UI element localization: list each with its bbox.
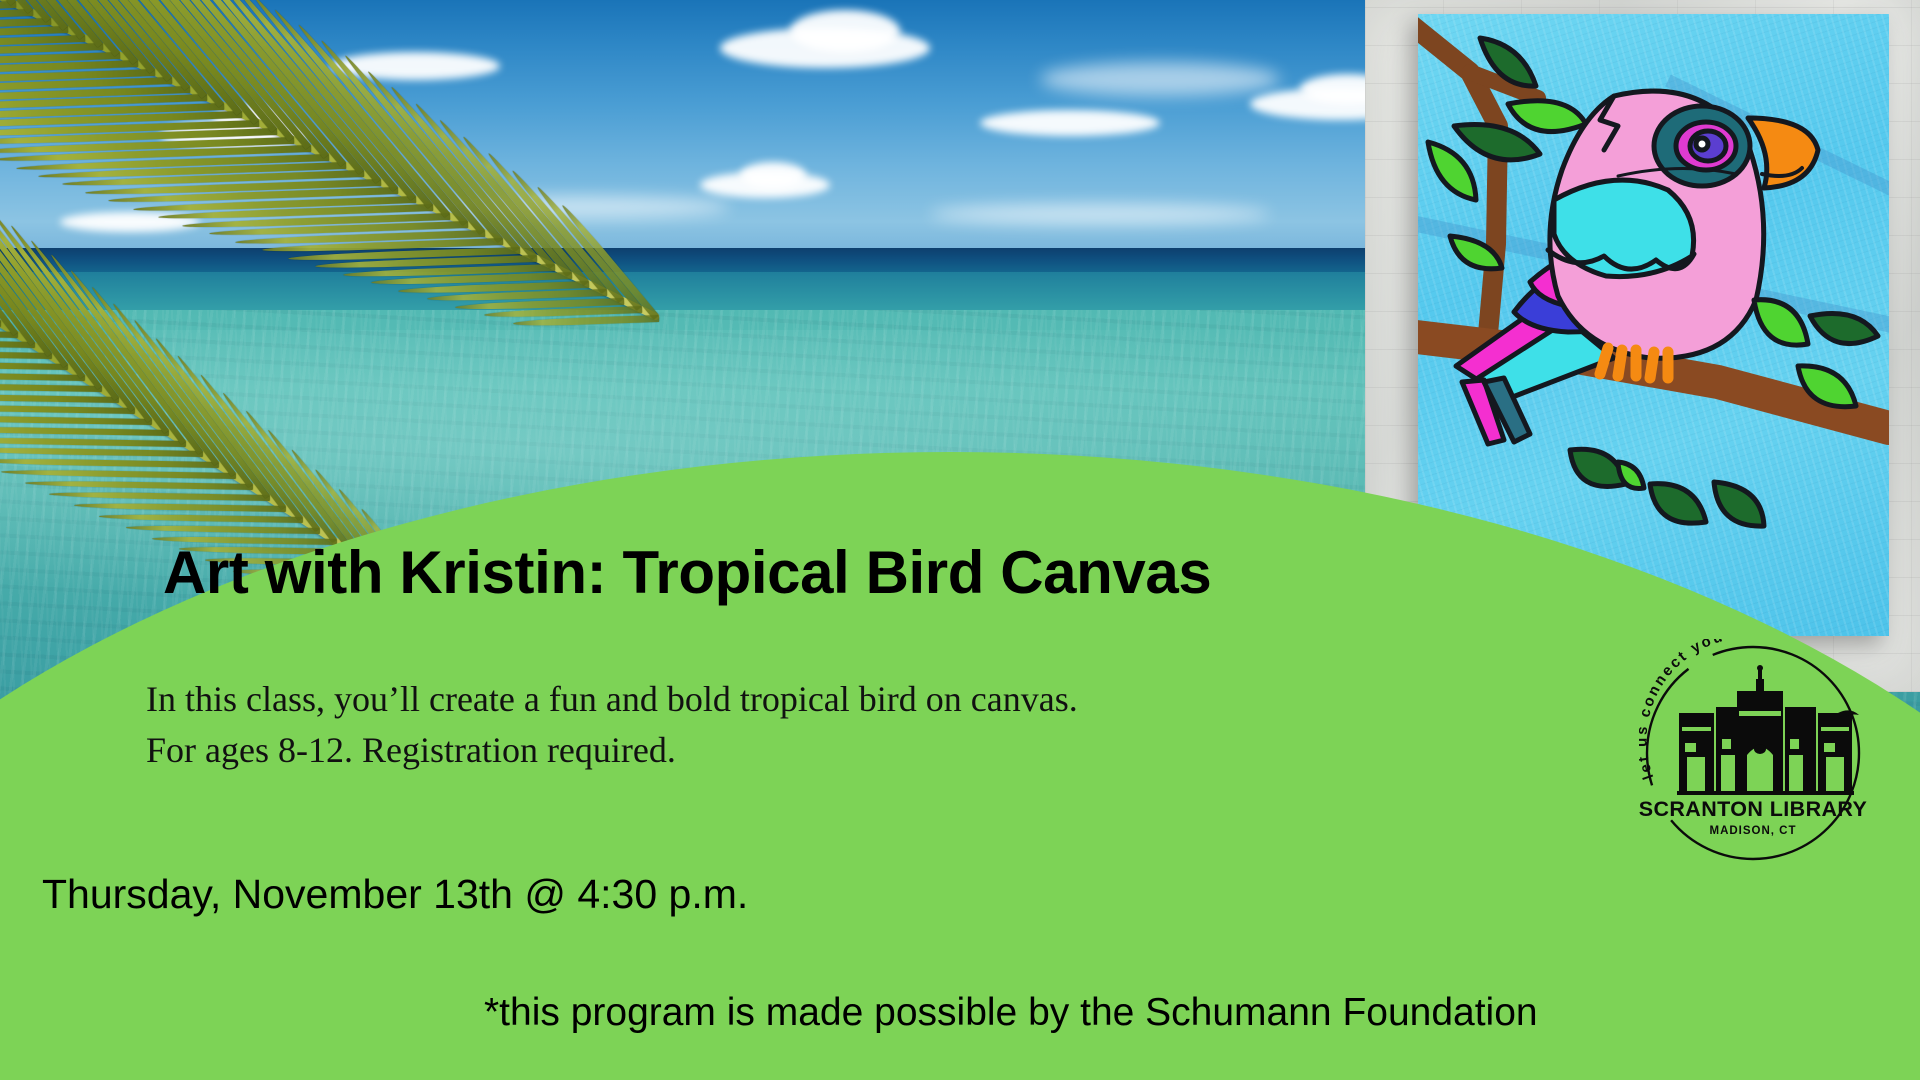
page-title: Art with Kristin: Tropical Bird Canvas (163, 538, 1211, 607)
logo-name: SCRANTON LIBRARY (1639, 797, 1867, 821)
logo-location: MADISON, CT (1709, 825, 1796, 837)
cloud (930, 204, 1270, 224)
palm-leaflet (125, 524, 320, 533)
palm-leaflet (0, 458, 219, 468)
sponsor-footnote: *this program is made possible by the Sc… (484, 991, 1538, 1035)
event-description: In this class, you’ll create a fun and b… (146, 674, 1078, 776)
palm-leaflet (0, 414, 152, 425)
library-building-icon (1677, 665, 1859, 795)
event-flyer: Art with Kristin: Tropical Bird Canvas I… (0, 0, 1920, 1080)
cloud (1040, 62, 1280, 96)
palm-leaflet (1, 469, 236, 479)
scranton-library-logo: let us connect you (1639, 639, 1867, 867)
palm-leaflet (0, 436, 186, 446)
description-line-1: In this class, you’ll create a fun and b… (146, 674, 1078, 725)
palm-leaflet (0, 447, 203, 457)
palm-leaflet (74, 502, 286, 512)
palm-leaflet (49, 491, 270, 501)
description-line-2: For ages 8-12. Registration required. (146, 725, 1078, 776)
logo-svg: let us connect you (1639, 639, 1867, 867)
palm-leaflet (0, 403, 135, 414)
palm-leaflet (25, 480, 253, 490)
event-datetime: Thursday, November 13th @ 4:30 p.m. (42, 871, 748, 918)
cloud (790, 10, 900, 52)
palm-leaflet (100, 513, 304, 523)
palm-leaflet (0, 425, 169, 435)
cloud (980, 110, 1160, 136)
palm-leaflet (0, 392, 119, 403)
